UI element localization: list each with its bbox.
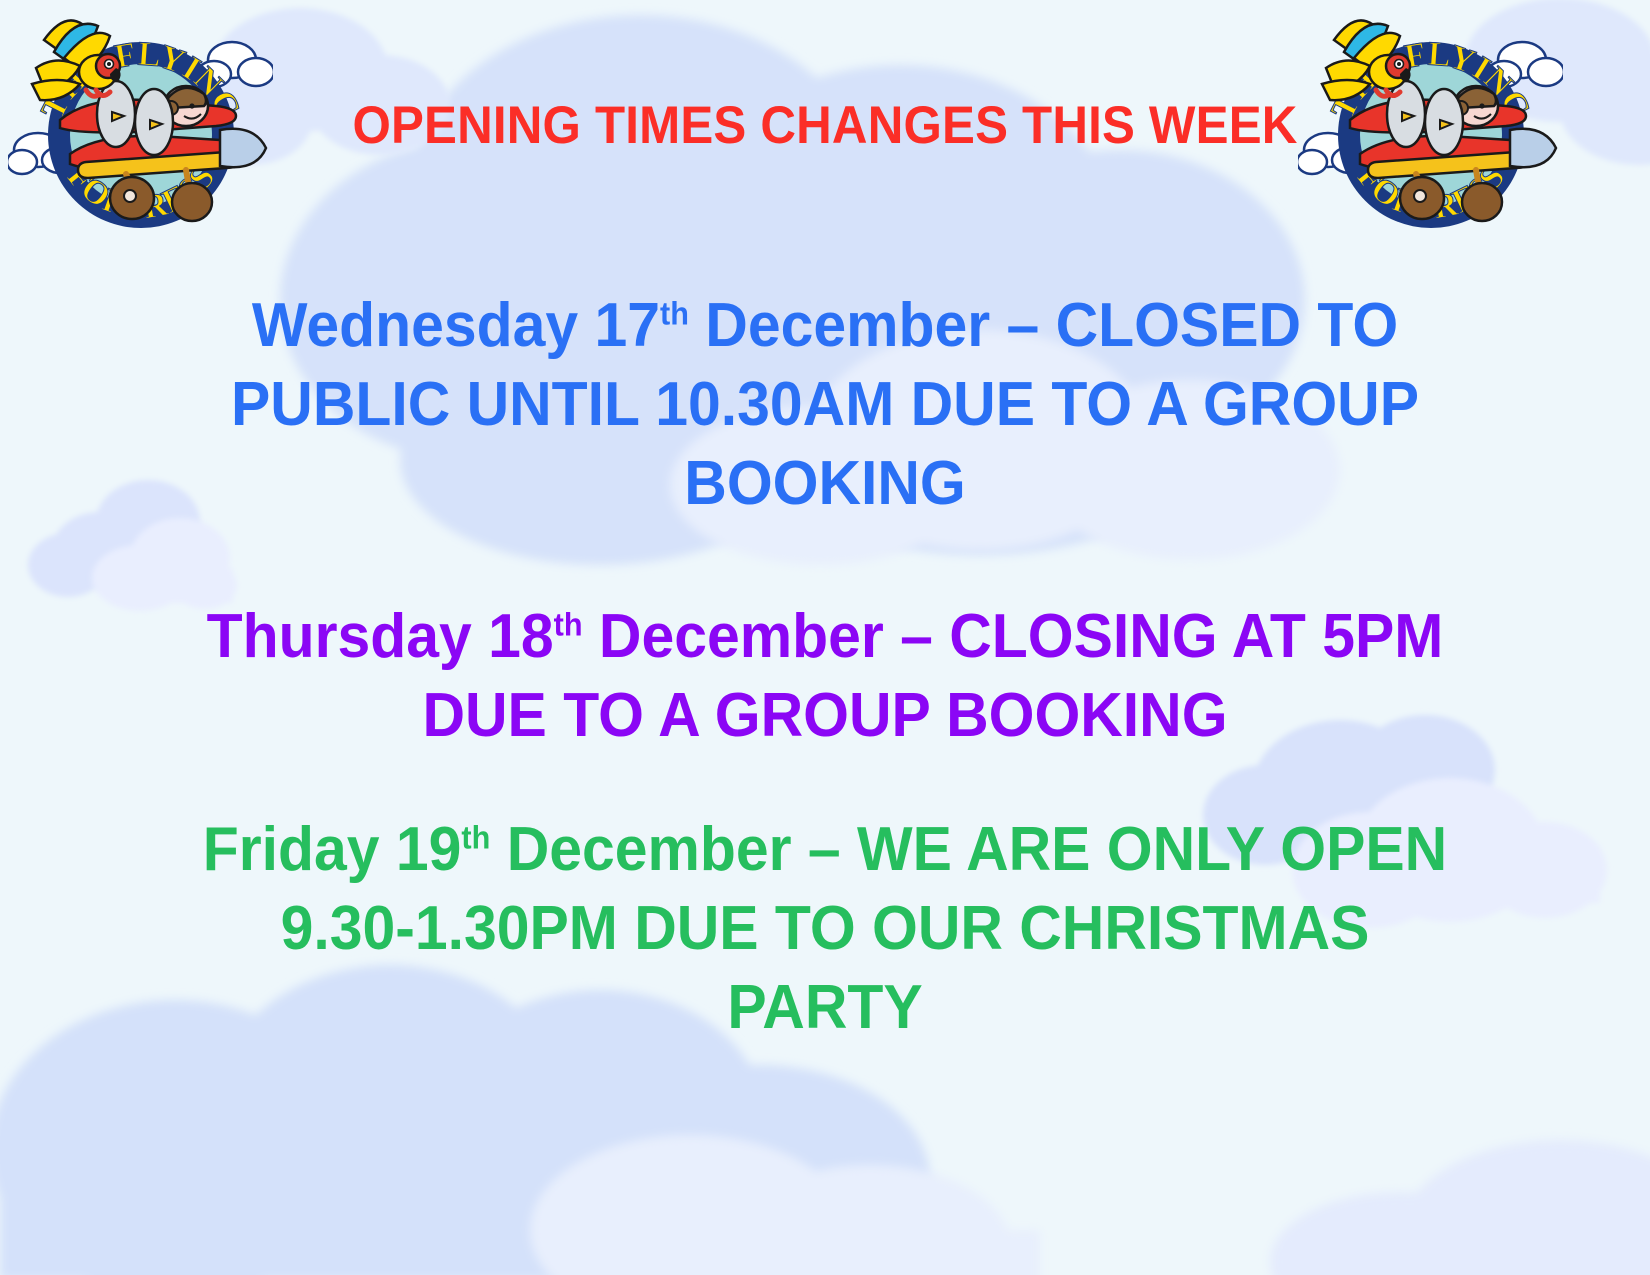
notice-wednesday-suffix: th: [660, 295, 689, 331]
spacer-thursday-friday: [0, 755, 1650, 810]
poster-canvas: THE FLYING FORTRESS: [0, 0, 1650, 1275]
notice-wednesday: Wednesday 17th December – CLOSED TO PUBL…: [41, 286, 1609, 523]
notice-wednesday-lead: Wednesday 17: [252, 291, 660, 360]
notice-friday: Friday 19th December – WE ARE ONLY OPEN …: [41, 810, 1609, 1047]
notice-friday-suffix: th: [461, 819, 490, 855]
cloud-bottom-left-highlight: [530, 1135, 1040, 1275]
logo-parrot-icon-2: [1322, 20, 1411, 100]
notice-thursday-suffix: th: [554, 606, 583, 642]
cloud-bottom-right: [1270, 1140, 1650, 1275]
notice-friday-lead: Friday 19: [203, 815, 462, 884]
notice-thursday: Thursday 18th December – CLOSING AT 5PM …: [41, 597, 1609, 755]
spacer-wednesday-thursday: [0, 523, 1650, 597]
logo-parrot-icon: [32, 20, 121, 100]
page-title: OPENING TIMES CHANGES THIS WEEK: [58, 95, 1593, 156]
notice-list: Wednesday 17th December – CLOSED TO PUBL…: [0, 286, 1650, 1047]
notice-thursday-lead: Thursday 18: [207, 602, 554, 671]
